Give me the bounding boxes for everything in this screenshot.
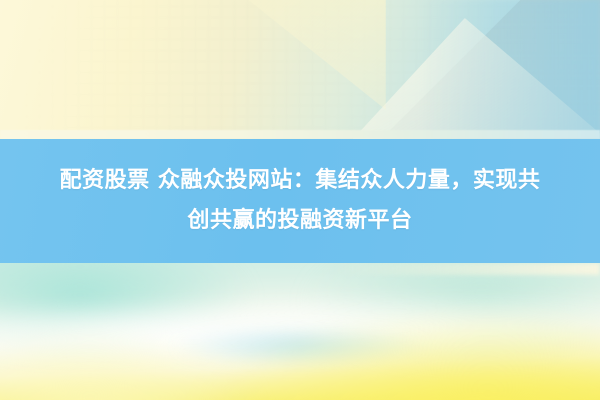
top-pale-strip [0,130,600,139]
promo-banner: 配资股票 众融众投网站：集结众人力量，实现共 创共赢的投融资新平台 [0,0,600,400]
headline-line-1: 配资股票 众融众投网站：集结众人力量，实现共 [12,161,588,201]
cloud-yellow-right [200,310,600,400]
bottom-cream-seam [330,263,600,275]
headline-line-2: 创共赢的投融资新平台 [12,201,588,241]
right-teal-fade [420,0,600,139]
banner-top-decoration [0,0,600,139]
banner-bottom-decoration [0,263,600,400]
headline-band: 配资股票 众融众投网站：集结众人力量，实现共 创共赢的投融资新平台 [0,139,600,263]
